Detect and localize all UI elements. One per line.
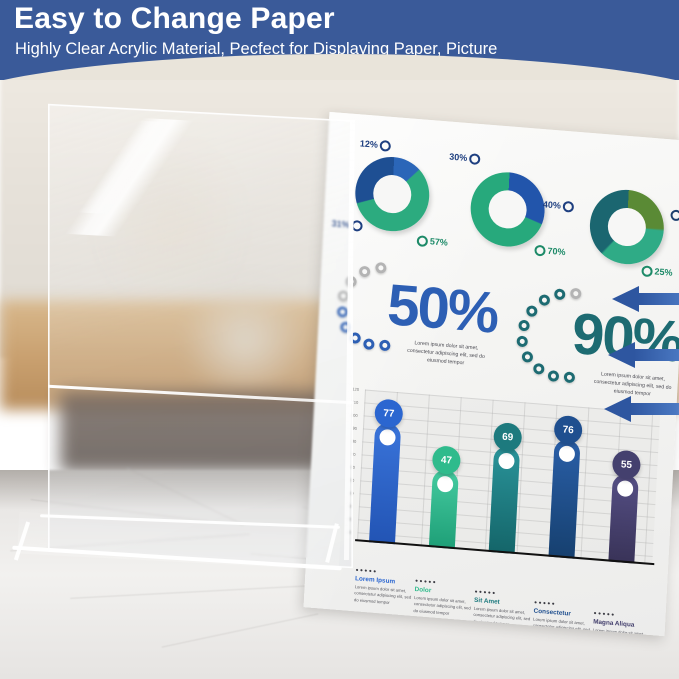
arrow-shaft [638, 293, 679, 305]
arrow-head-icon [608, 342, 635, 368]
header-banner: Easy to Change Paper Highly Clear Acryli… [0, 0, 679, 80]
arrow-left-1 [612, 286, 679, 312]
arrow-shaft [630, 403, 679, 415]
arrow-head-icon [604, 396, 631, 422]
arrow-head-icon [612, 286, 639, 312]
arrow-shaft [634, 349, 679, 361]
banner-title: Easy to Change Paper [14, 2, 335, 36]
callout-arrows [0, 0, 679, 679]
arrow-left-3 [604, 396, 679, 422]
arrow-left-2 [608, 342, 679, 368]
product-photo: 12% 31% 57% 30% 70% 40% 25% 25 [0, 0, 679, 679]
